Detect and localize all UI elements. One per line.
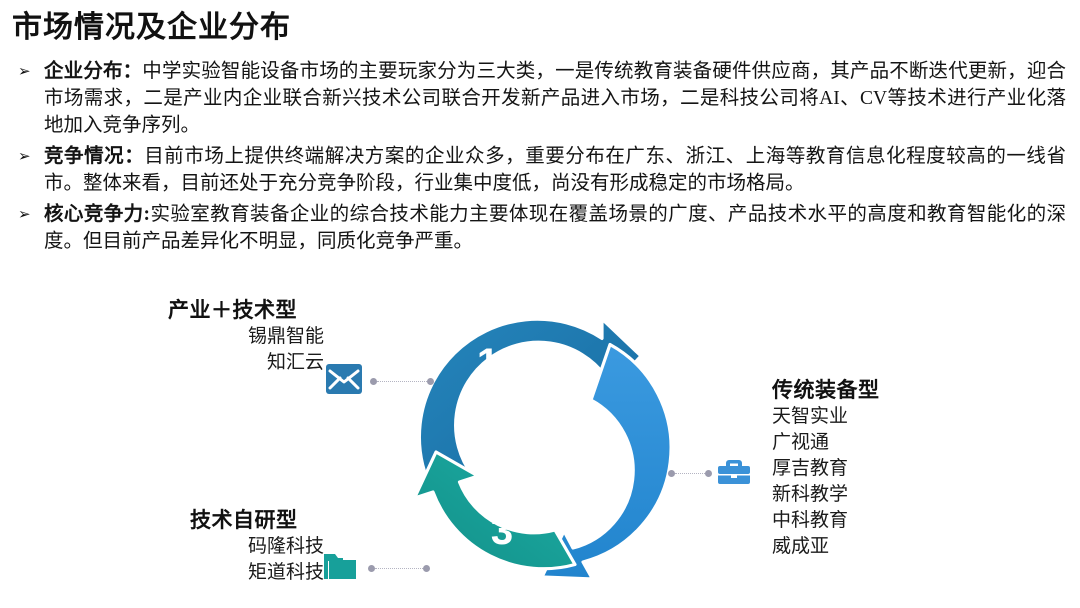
bullet-text: 核心竞争力:实验室教育装备企业的综合技术能力主要体现在覆盖场景的广度、产品技术水… — [44, 201, 1066, 255]
company-distribution-diagram: 1 2 3 — [0, 286, 1080, 608]
bullet-arrow-icon: ➢ — [18, 144, 31, 169]
connector-line-industry-tech — [370, 377, 434, 386]
bullet-item-core-competency: ➢ 核心竞争力:实验室教育装备企业的综合技术能力主要体现在覆盖场景的广度、产品技… — [18, 201, 1066, 255]
ring-segment-2-number: 2 — [613, 446, 635, 490]
connector-dot — [668, 470, 675, 477]
briefcase-icon-svg — [716, 454, 752, 490]
company-name: 广视通 — [772, 430, 972, 456]
bullet-item-competition: ➢ 竞争情况：目前市场上提供终端解决方案的企业众多，重要分布在广东、浙江、上海等… — [18, 143, 1066, 197]
bullet-body-text: 目前市场上提供终端解决方案的企业众多，重要分布在广东、浙江、上海等教育信息化程度… — [44, 146, 1066, 194]
connector-dot — [427, 378, 434, 385]
page-title: 市场情况及企业分布 — [12, 2, 291, 46]
company-name: 知汇云 — [168, 350, 324, 376]
mail-icon — [326, 362, 362, 398]
bullet-body-text: 中学实验智能设备市场的主要玩家分为三大类，一是传统教育装备硬件供应商，其产品不断… — [44, 61, 1066, 136]
company-name: 厚吉教育 — [772, 456, 972, 482]
company-name: 中科教育 — [772, 508, 972, 534]
connector-dot — [705, 470, 712, 477]
bullet-item-enterprise-distribution: ➢ 企业分布：中学实验智能设备市场的主要玩家分为三大类，一是传统教育装备硬件供应… — [18, 58, 1066, 139]
folder-icon — [322, 548, 358, 584]
company-name: 矩道科技 — [190, 560, 324, 586]
cycle-ring-graphic: 1 2 3 — [392, 296, 692, 596]
bullet-text: 竞争情况：目前市场上提供终端解决方案的企业众多，重要分布在广东、浙江、上海等教育… — [44, 143, 1066, 197]
connector-dotted-line — [675, 473, 705, 474]
mail-icon-svg — [326, 362, 362, 398]
cycle-ring-svg: 1 2 3 — [392, 296, 692, 596]
company-name: 锡鼎智能 — [168, 324, 324, 350]
category-group-traditional: 传统装备型 天智实业 广视通 厚吉教育 新科教学 中科教育 威成亚 — [772, 374, 972, 560]
connector-line-traditional — [668, 469, 712, 478]
connector-line-self-research — [368, 564, 430, 573]
connector-dotted-line — [377, 381, 427, 382]
company-name: 码隆科技 — [190, 534, 324, 560]
connector-dotted-line — [375, 568, 423, 569]
bullet-body-text: 实验室教育装备企业的综合技术能力主要体现在覆盖场景的广度、产品技术水平的高度和教… — [44, 204, 1066, 252]
connector-dot — [368, 565, 375, 572]
category-title: 传统装备型 — [772, 374, 972, 404]
bullet-arrow-icon: ➢ — [18, 202, 31, 227]
ring-segment-1-number: 1 — [477, 341, 499, 385]
connector-dot — [423, 565, 430, 572]
bullet-list: ➢ 企业分布：中学实验智能设备市场的主要玩家分为三大类，一是传统教育装备硬件供应… — [18, 58, 1066, 259]
company-name: 威成亚 — [772, 534, 972, 560]
ring-segment-3-number: 3 — [491, 509, 513, 553]
bullet-text: 企业分布：中学实验智能设备市场的主要玩家分为三大类，一是传统教育装备硬件供应商，… — [44, 58, 1066, 139]
connector-dot — [370, 378, 377, 385]
bullet-lead-label: 企业分布： — [44, 61, 142, 82]
category-title: 技术自研型 — [190, 504, 324, 534]
bullet-lead-label: 核心竞争力: — [44, 204, 150, 225]
bullet-lead-label: 竞争情况： — [44, 146, 144, 167]
bullet-arrow-icon: ➢ — [18, 59, 31, 84]
company-name: 新科教学 — [772, 482, 972, 508]
company-name: 天智实业 — [772, 404, 972, 430]
folder-icon-svg — [322, 548, 358, 584]
briefcase-icon — [716, 454, 752, 490]
ring-center-hub — [480, 384, 604, 508]
category-title: 产业＋技术型 — [168, 294, 324, 324]
category-group-industry-tech: 产业＋技术型 锡鼎智能 知汇云 — [168, 294, 324, 376]
category-group-self-research: 技术自研型 码隆科技 矩道科技 — [190, 504, 324, 586]
